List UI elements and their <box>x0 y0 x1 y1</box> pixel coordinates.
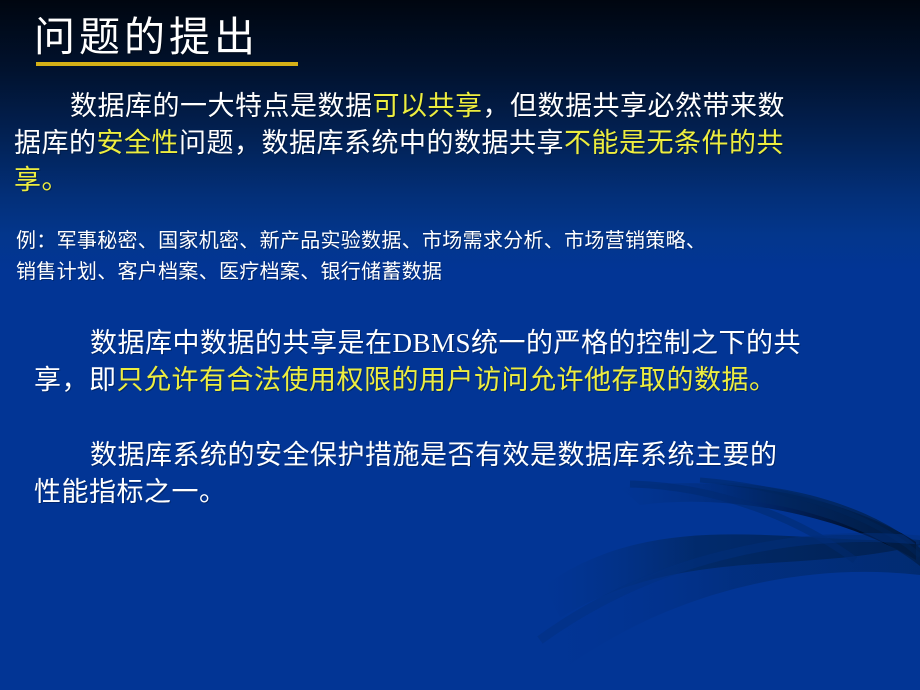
text-line: 数据库中数据的共享是在DBMS统一的严格的控制之下的共 <box>34 325 910 362</box>
page-title: 问题的提出 <box>34 14 454 60</box>
swoosh-band-mid <box>545 534 920 618</box>
text-line: 享，即只允许有合法使用权限的用户访问允许他存取的数据。 <box>34 362 910 399</box>
text-run: ，但数据共享必然带来数 <box>483 91 786 121</box>
example-paragraph: 例：军事秘密、国家机密、新产品实验数据、市场需求分析、市场营销策略、销售计划、客… <box>16 226 906 288</box>
text-run: 例：军事秘密、国家机密、新产品实验数据、市场需求分析、市场营销策略、 <box>16 230 706 252</box>
dbms-paragraph: 数据库中数据的共享是在DBMS统一的严格的控制之下的共享，即只允许有合法使用权限… <box>34 325 910 399</box>
intro-paragraph: 数据库的一大特点是数据可以共享，但数据共享必然带来数据库的安全性问题，数据库系统… <box>14 88 910 199</box>
highlighted-text-run: 不能是无条件的共 <box>564 128 784 158</box>
text-line: 数据库系统的安全保护措施是否有效是数据库系统主要的 <box>34 437 910 474</box>
text-line: 销售计划、客户档案、医疗档案、银行储蓄数据 <box>16 257 906 288</box>
swoosh-arc-c <box>540 538 920 640</box>
metric-paragraph: 数据库系统的安全保护措施是否有效是数据库系统主要的性能指标之一。 <box>34 437 910 511</box>
highlighted-text-run: 只允许有合法使用权限的用户访问允许他存取的数据。 <box>117 365 777 395</box>
text-run: 享，即 <box>34 365 117 395</box>
highlighted-text-run: 享。 <box>14 165 69 195</box>
text-run: 问题，数据库系统中的数据共享 <box>179 128 564 158</box>
text-run: 数据库的一大特点是数据 <box>70 91 373 121</box>
presentation-slide: 问题的提出 数据库的一大特点是数据可以共享，但数据共享必然带来数据库的安全性问题… <box>0 0 920 690</box>
text-line: 据库的安全性问题，数据库系统中的数据共享不能是无条件的共 <box>14 125 910 162</box>
text-run: 销售计划、客户档案、医疗档案、银行储蓄数据 <box>16 261 442 283</box>
text-line: 数据库的一大特点是数据可以共享，但数据共享必然带来数 <box>14 88 910 125</box>
highlighted-text-run: 安全性 <box>97 128 180 158</box>
text-run: 数据库中数据的共享是在DBMS统一的严格的控制之下的共 <box>90 328 801 358</box>
title-block: 问题的提出 <box>34 14 454 66</box>
text-run: 据库的 <box>14 128 97 158</box>
title-underline-rule <box>36 62 298 66</box>
text-line: 享。 <box>14 162 910 199</box>
text-line: 性能指标之一。 <box>34 474 910 511</box>
text-run: 数据库系统的安全保护措施是否有效是数据库系统主要的 <box>90 440 778 470</box>
text-line: 例：军事秘密、国家机密、新产品实验数据、市场需求分析、市场营销策略、 <box>16 226 906 257</box>
highlighted-text-run: 可以共享 <box>373 91 483 121</box>
text-run: 性能指标之一。 <box>34 477 227 507</box>
swoosh-band-lower <box>550 535 920 665</box>
